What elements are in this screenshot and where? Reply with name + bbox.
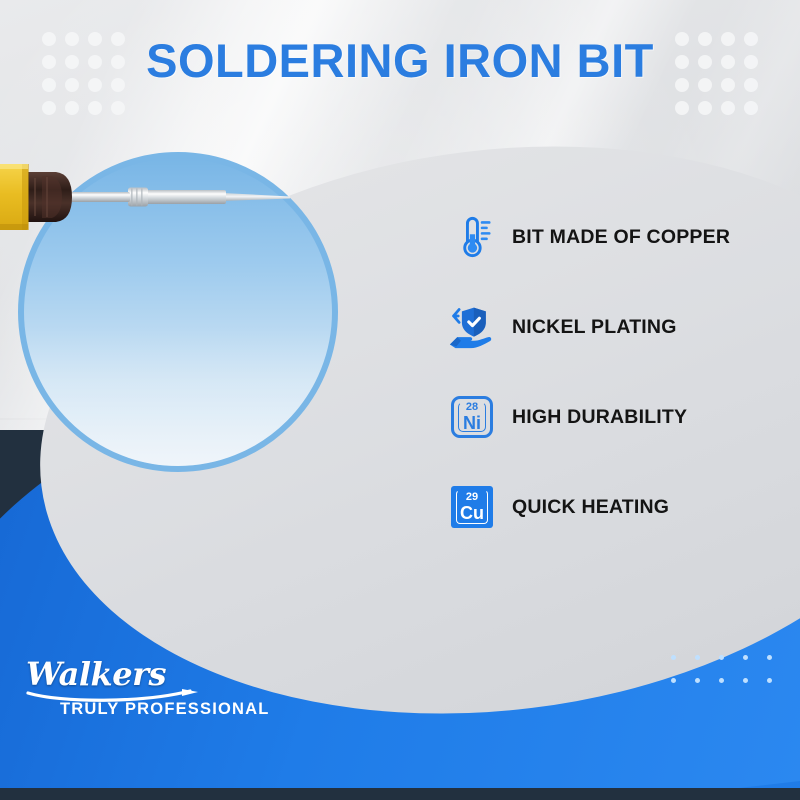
infographic-canvas: C4590 C252 PA0K200 PA0B V2 LC503 DN61 R2… <box>0 0 800 800</box>
page-title: SOLDERING IRON BIT <box>146 33 654 88</box>
element-tile-nickel-icon: 28 Ni <box>446 389 498 445</box>
header: SOLDERING IRON BIT <box>0 0 800 120</box>
soldering-iron-bit-image <box>0 152 330 242</box>
element-number: 28 <box>466 402 478 413</box>
thermometer-icon <box>446 209 498 265</box>
hand-shield-check-icon <box>446 299 498 355</box>
logo-swoosh-icon <box>22 689 270 699</box>
feature-label: QUICK HEATING <box>512 496 669 519</box>
feature-label: HIGH DURABILITY <box>512 406 687 429</box>
feature-row: 28 Ni HIGH DURABILITY <box>446 372 776 462</box>
element-number: 29 <box>466 492 478 503</box>
footer-dot-grid <box>671 655 772 683</box>
feature-row: NICKEL PLATING <box>446 282 776 372</box>
element-tile-copper-icon: 29 Cu <box>446 479 498 535</box>
feature-label: BIT MADE OF COPPER <box>512 226 730 249</box>
feature-label: NICKEL PLATING <box>512 316 677 339</box>
brand-logo: Walkers TRULY PROFESSIONAL <box>22 658 270 719</box>
brand-name: Walkers <box>22 658 270 690</box>
feature-row: BIT MADE OF COPPER <box>446 192 776 282</box>
footer-bottom-strip <box>0 788 800 800</box>
feature-row: 29 Cu QUICK HEATING <box>446 462 776 552</box>
element-symbol: Ni <box>463 414 481 432</box>
feature-list: BIT MADE OF COPPER NICKEL PLATING <box>446 192 776 552</box>
element-symbol: Cu <box>460 504 484 522</box>
